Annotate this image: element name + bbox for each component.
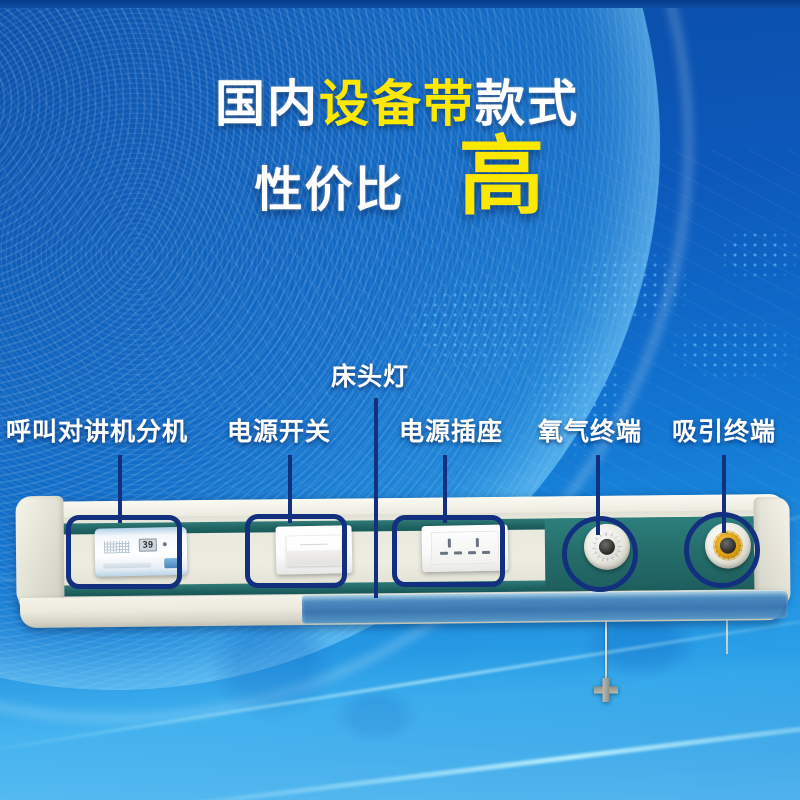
label-intercom: 呼叫对讲机分机 <box>6 412 188 448</box>
label-power-switch: 电源开关 <box>227 412 331 448</box>
label-suction-terminal: 吸引终端 <box>672 412 776 448</box>
label-power-socket: 电源插座 <box>399 412 503 448</box>
callout-labels: 呼叫对讲机分机 电源开关 床头灯 电源插座 氧气终端 吸引终端 <box>0 0 800 800</box>
label-oxygen-terminal: 氧气终端 <box>538 412 642 448</box>
label-bed-lamp: 床头灯 <box>331 357 409 393</box>
